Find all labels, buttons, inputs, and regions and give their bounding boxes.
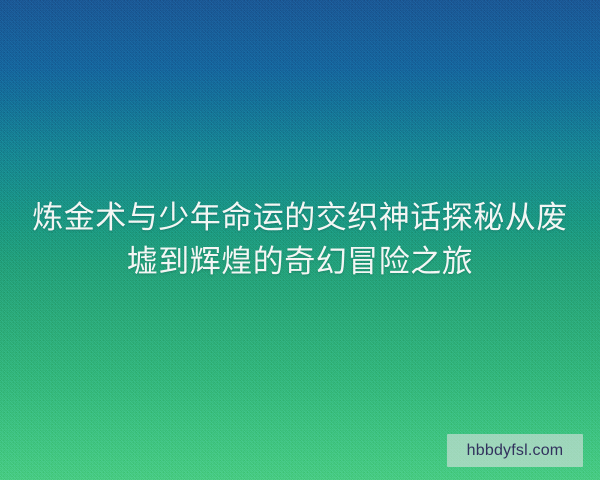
watermark-badge: hbbdyfsl.com	[447, 434, 583, 467]
cover-card: 炼金术与少年命运的交织神话探秘从废墟到辉煌的奇幻冒险之旅 hbbdyfsl.co…	[0, 0, 600, 480]
page-title: 炼金术与少年命运的交织神话探秘从废墟到辉煌的奇幻冒险之旅	[18, 196, 582, 284]
headline-container: 炼金术与少年命运的交织神话探秘从废墟到辉煌的奇幻冒险之旅	[0, 0, 600, 480]
watermark-label: hbbdyfsl.com	[467, 443, 564, 459]
